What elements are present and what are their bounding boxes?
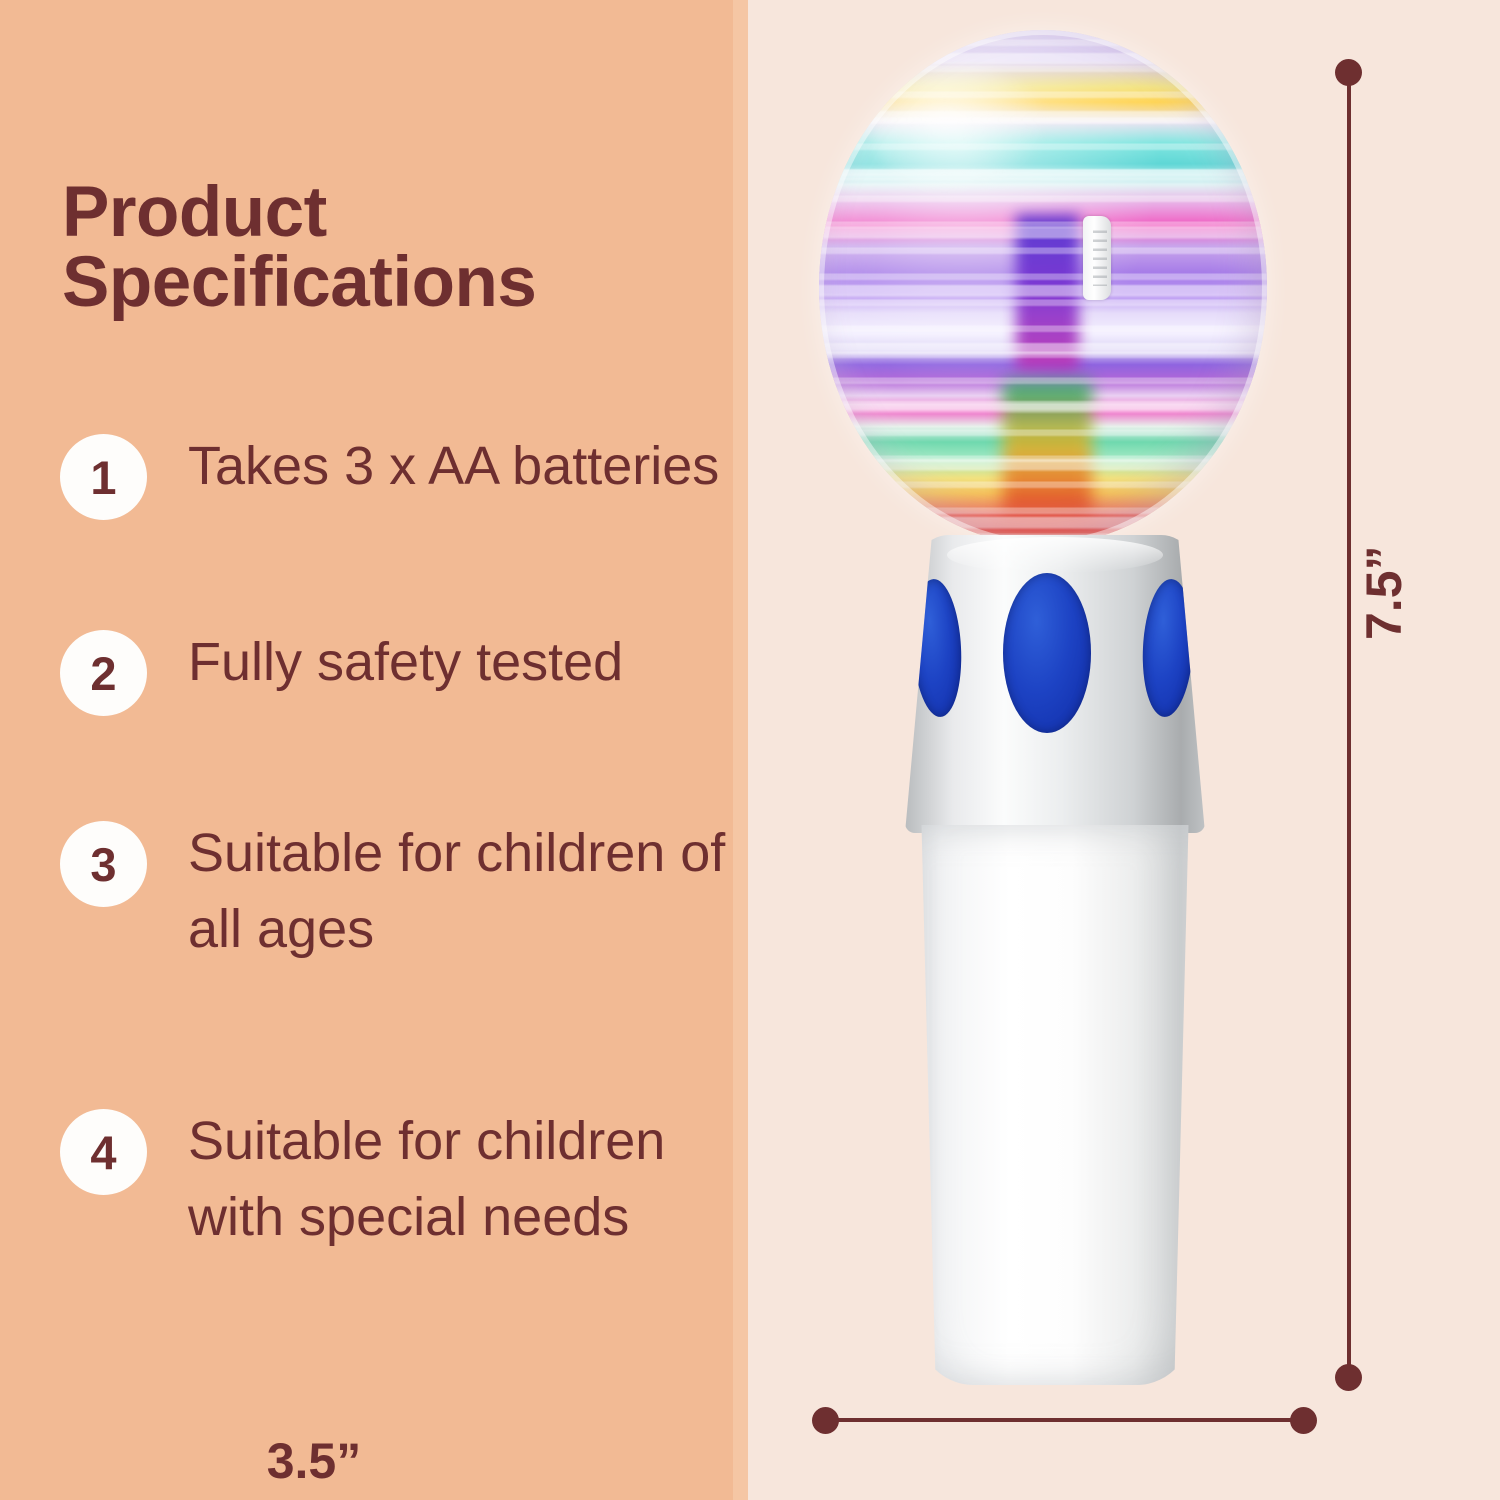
- width-dimension-label: 3.5”: [267, 1433, 362, 1489]
- width-dimension-line: [825, 1418, 1303, 1422]
- spec-number-badge: 2: [60, 630, 147, 716]
- blue-oval-window-right: [1139, 578, 1196, 718]
- switch-ridges: [1093, 224, 1107, 286]
- collar-highlight: [947, 537, 1163, 573]
- product-image: [795, 30, 1265, 1390]
- spec-text: Fully safety tested: [188, 625, 748, 701]
- silver-collar: [905, 535, 1205, 833]
- spec-text: Suitable for children with special needs: [188, 1104, 748, 1255]
- width-dimension-label-wrap: 3.5”: [0, 1432, 1500, 1490]
- white-handle-shading: [913, 825, 1197, 1385]
- height-dimension-line: [1347, 72, 1351, 1378]
- width-dimension-dot-right: [1290, 1407, 1317, 1434]
- width-dimension-dot-left: [812, 1407, 839, 1434]
- globe-rim: [819, 30, 1267, 545]
- spec-number-badge: 3: [60, 821, 147, 907]
- spec-text: Suitable for children of all ages: [188, 816, 748, 967]
- spec-number-badge: 4: [60, 1109, 147, 1195]
- page-title-line-2: Specifications: [62, 248, 742, 318]
- spinning-light-ball: [819, 30, 1267, 560]
- height-dimension-dot-top: [1335, 59, 1362, 86]
- spec-number-badge: 1: [60, 434, 147, 520]
- power-switch[interactable]: [1083, 216, 1111, 300]
- blue-oval-window-center: [1003, 573, 1091, 733]
- height-dimension-dot-bottom: [1335, 1364, 1362, 1391]
- height-dimension-label: 7.5”: [1355, 545, 1413, 640]
- page-title: Product Specifications: [62, 178, 742, 317]
- product-specifications-infographic: Product Specifications 1 Takes 3 x AA ba…: [0, 0, 1500, 1500]
- page-title-line-1: Product: [62, 173, 327, 252]
- blue-oval-window-left: [909, 578, 964, 718]
- spec-text: Takes 3 x AA batteries: [188, 429, 748, 505]
